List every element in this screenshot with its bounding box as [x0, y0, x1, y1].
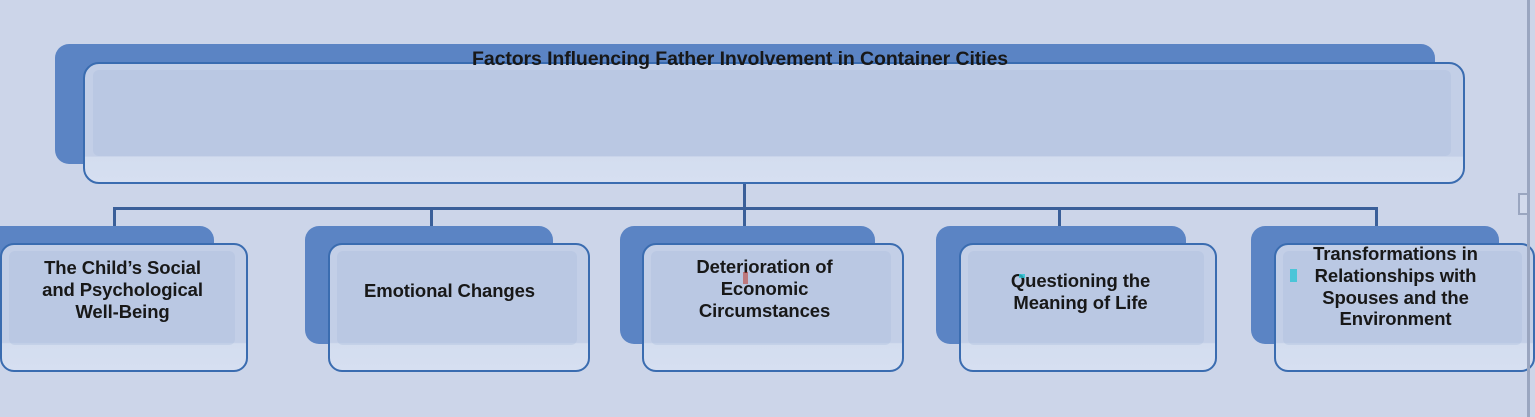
leaf-node-child-wellbeing[interactable]: The Child’s Social and Psychological Wel…	[0, 215, 275, 390]
leaf-node-emotional-changes[interactable]: Emotional Changes	[297, 215, 602, 390]
leaf-node-label: Transformations in Relationships with Sp…	[1243, 243, 1535, 330]
root-node-body[interactable]	[83, 62, 1465, 184]
leaf-node-relationship-transformations[interactable]: Transformations in Relationships with Sp…	[1243, 215, 1535, 390]
spellcheck-mark-icon	[743, 272, 748, 284]
leaf-node-body[interactable]	[328, 243, 590, 372]
root-node-inner-panel	[93, 70, 1451, 156]
leaf-node-label: Deterioration of Economic Circumstances	[612, 256, 917, 321]
leaf-node-label: Questioning the Meaning of Life	[928, 270, 1233, 314]
canvas-edge-handle[interactable]	[1518, 193, 1529, 215]
leaf-node-label: The Child’s Social and Psychological Wel…	[0, 257, 275, 322]
leaf-node-meaning-of-life[interactable]: Questioning the Meaning of Life	[928, 215, 1233, 390]
leaf-node-economic-circumstances[interactable]: Deterioration of Economic Circumstances	[612, 215, 917, 390]
root-node-label: Factors Influencing Father Involvement i…	[0, 48, 1480, 71]
diagram-canvas: Factors Influencing Father Involvement i…	[0, 0, 1535, 417]
cursor-mark-icon	[1290, 269, 1297, 282]
cursor-mark-icon	[1019, 274, 1025, 278]
root-node[interactable]: Factors Influencing Father Involvement i…	[0, 0, 1480, 200]
leaf-node-label: Emotional Changes	[297, 280, 602, 302]
